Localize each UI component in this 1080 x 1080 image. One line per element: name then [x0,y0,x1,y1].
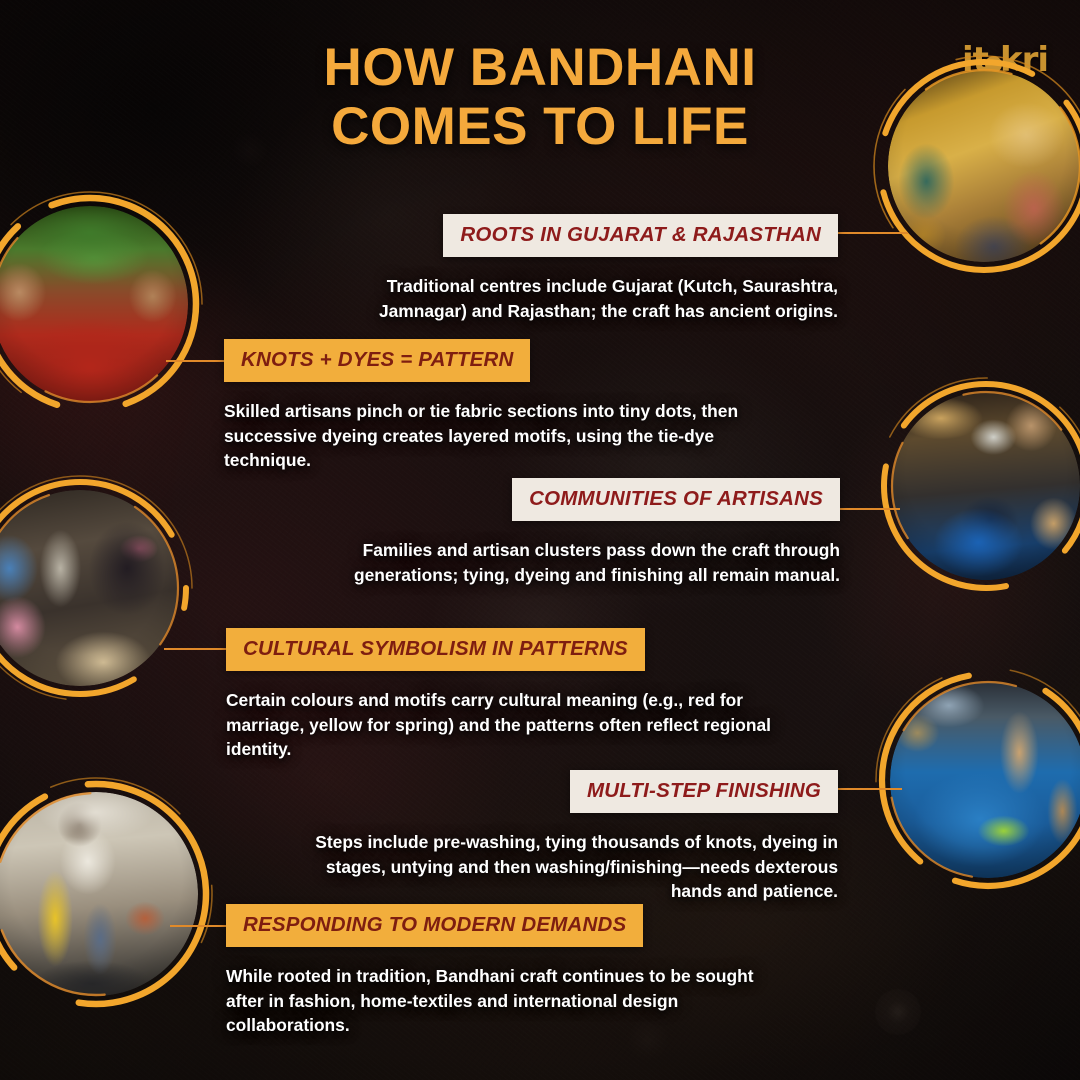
section-label-modern[interactable]: RESPONDING TO MODERN DEMANDS [226,904,643,947]
section-label-communities[interactable]: COMMUNITIES OF ARTISANS [512,478,840,521]
section-body-symbolism: Certain colours and motifs carry cultura… [226,688,778,762]
connector-line-roots [836,232,908,234]
section-body-modern: While rooted in tradition, Bandhani craf… [226,964,782,1038]
section-finishing: MULTI-STEP FINISHING Steps include pre-w… [300,770,838,904]
section-modern: RESPONDING TO MODERN DEMANDS While roote… [226,904,782,1038]
section-label-symbolism[interactable]: CULTURAL SYMBOLISM IN PATTERNS [226,628,645,671]
section-knots: KNOTS + DYES = PATTERN Skilled artisans … [224,339,780,473]
photo-blue-vat-shade [890,682,1080,878]
connector-line-finishing [836,788,902,790]
photo-tying-women [888,70,1080,262]
page-title: HOW BANDHANI COMES TO LIFE [190,38,890,157]
section-body-communities: Families and artisan clusters pass down … [300,538,840,587]
connector-line-knots [166,360,228,362]
section-label-roots[interactable]: ROOTS IN GUJARAT & RAJASTHAN [443,214,838,257]
section-label-finishing[interactable]: MULTI-STEP FINISHING [570,770,838,813]
connector-line-symbolism [164,648,228,650]
photo-dye-man [892,392,1080,580]
page-title-line-2: COMES TO LIFE [190,97,890,156]
photo-tying-women-shade [888,70,1080,262]
connector-line-communities [838,508,900,510]
connector-line-modern [170,925,228,927]
photo-dye-man-shade [892,392,1080,580]
section-body-roots: Traditional centres include Gujarat (Kut… [302,274,838,323]
photo-red-knots [0,206,188,402]
section-body-finishing: Steps include pre-washing, tying thousan… [300,830,838,904]
photo-yellow-cloth [0,792,198,996]
section-communities: COMMUNITIES OF ARTISANS Families and art… [300,478,840,587]
section-symbolism: CULTURAL SYMBOLISM IN PATTERNS Certain c… [226,628,778,762]
photo-red-knots-shade [0,206,188,402]
photo-blue-vat [890,682,1080,878]
page-title-line-1: HOW BANDHANI [324,38,757,97]
photo-yellow-cloth-shade [0,792,198,996]
section-label-knots[interactable]: KNOTS + DYES = PATTERN [224,339,530,382]
section-roots: ROOTS IN GUJARAT & RAJASTHAN Traditional… [302,214,838,323]
section-body-knots: Skilled artisans pinch or tie fabric sec… [224,399,780,473]
